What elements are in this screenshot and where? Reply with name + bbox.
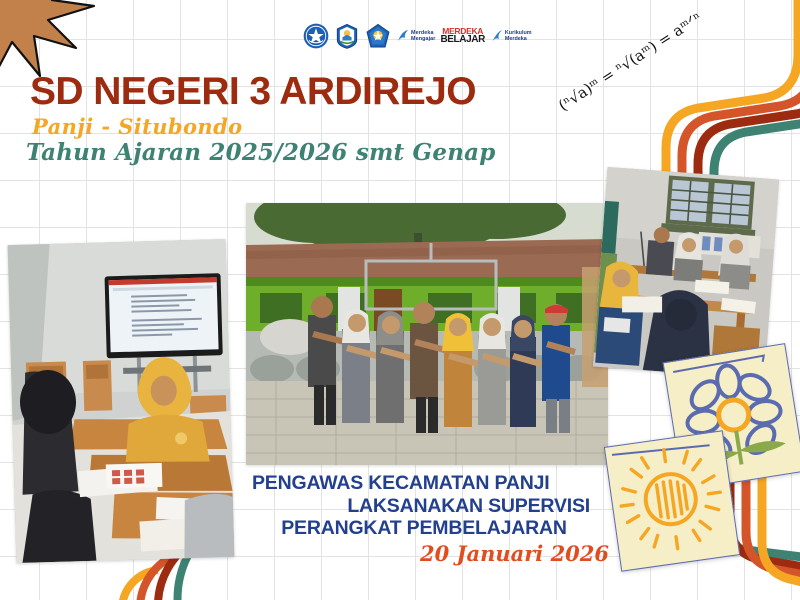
photo-group-outdoor [246, 203, 608, 465]
school-name-title: SD NEGERI 3 ARDIREJO [30, 72, 476, 111]
sun-doodle-icon [605, 431, 739, 570]
kurikulum-merdeka-line2: Merdeka [505, 36, 532, 42]
kurikulum-merdeka-mark-icon [490, 29, 503, 44]
merdeka-belajar-line2: BELAJAR [440, 35, 484, 45]
merdeka-mengajar-line2: Mengajar [411, 36, 435, 42]
school-location-subtitle: Panji - Situbondo [32, 114, 243, 139]
burst-icon [0, 0, 98, 80]
photo-teachers-room [593, 167, 779, 379]
tut-wuri-handayani-logo-icon [303, 23, 329, 49]
event-date: 20 Januari 2026 [420, 541, 596, 566]
photo-group-outdoor-image [246, 203, 608, 465]
burst-decoration [0, 0, 98, 80]
caption-line-3: PERANGKAT PEMBELAJARAN [252, 517, 596, 540]
header-logo-row: Merdeka Mengajar MERDEKA BELAJAR Kurikul… [303, 21, 532, 51]
merdeka-mengajar-mark-icon [396, 29, 409, 44]
kemendikbud-logo-icon [365, 23, 391, 49]
photo-supervision-indoor-image [8, 239, 235, 563]
merdeka-mengajar-text: Merdeka Mengajar [411, 30, 435, 42]
caption-line-2: LAKSANAKAN SUPERVISI [252, 495, 596, 518]
photo-teachers-room-image [593, 167, 779, 379]
poster-canvas: Merdeka Mengajar MERDEKA BELAJAR Kurikul… [0, 0, 800, 600]
academic-year-subtitle: Tahun Ajaran 2025/2026 smt Genap [26, 139, 496, 166]
kurikulum-merdeka-logo-icon: Kurikulum Merdeka [490, 29, 532, 44]
note-card-sun [604, 430, 740, 571]
photo-supervision-indoor [8, 239, 235, 563]
merdeka-mengajar-logo-icon: Merdeka Mengajar [396, 29, 435, 44]
kurikulum-merdeka-text: Kurikulum Merdeka [505, 30, 532, 42]
situbondo-regency-logo-icon [334, 23, 360, 49]
caption-line-1: PENGAWAS KECAMATAN PANJI [252, 472, 596, 495]
merdeka-belajar-logo-icon: MERDEKA BELAJAR [440, 27, 484, 46]
event-caption: PENGAWAS KECAMATAN PANJI LAKSANAKAN SUPE… [252, 472, 596, 540]
